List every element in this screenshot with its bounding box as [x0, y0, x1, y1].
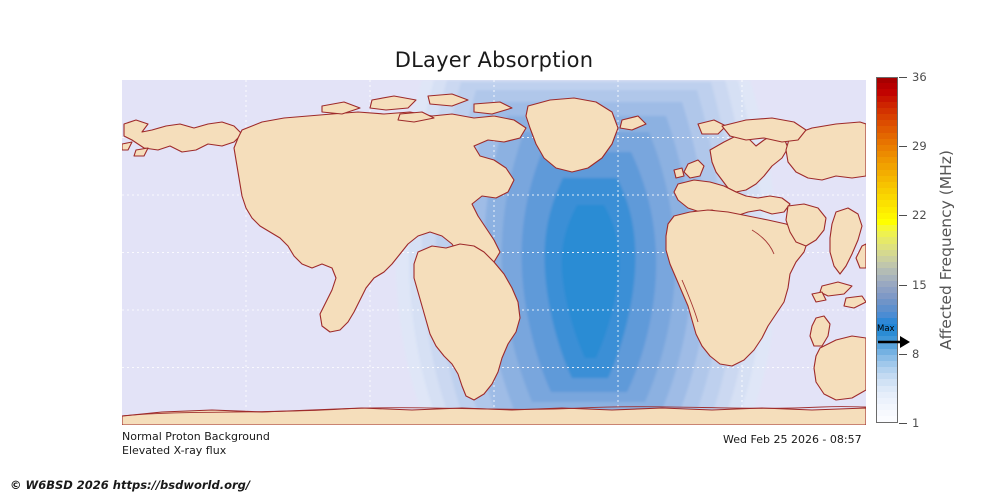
colorbar-tick-label: 8: [912, 347, 919, 361]
colorbar-tick: [899, 146, 907, 147]
colorbar-tick: [899, 77, 907, 78]
colorbar[interactable]: [876, 77, 898, 423]
colorbar-gradient: [876, 77, 898, 423]
map-panel[interactable]: [122, 80, 866, 425]
figure-canvas: DLayer Absorption: [0, 0, 1000, 500]
colorbar-tick-label: 36: [912, 70, 927, 84]
colorbar-tick-label: 22: [912, 208, 927, 222]
note-xray-flux: Elevated X-ray flux: [122, 444, 226, 457]
page-title: DLayer Absorption: [122, 48, 866, 72]
credit-label: © W6BSD 2026 https://bsdworld.org/: [10, 478, 250, 492]
timestamp-label: Wed Feb 25 2026 - 08:57: [723, 433, 862, 446]
colorbar-band: [876, 416, 898, 422]
note-proton-background: Normal Proton Background: [122, 430, 270, 443]
world-map[interactable]: [122, 80, 866, 425]
colorbar-tick: [899, 285, 907, 286]
colorbar-tick: [899, 354, 907, 355]
colorbar-tick-label: 15: [912, 278, 927, 292]
colorbar-axis-label: Affected Frequency (MHz): [935, 77, 957, 423]
colorbar-tick-label: 29: [912, 139, 927, 153]
colorbar-tick-label: 1: [912, 416, 919, 430]
colorbar-tick: [899, 215, 907, 216]
colorbar-tick: [899, 423, 907, 424]
